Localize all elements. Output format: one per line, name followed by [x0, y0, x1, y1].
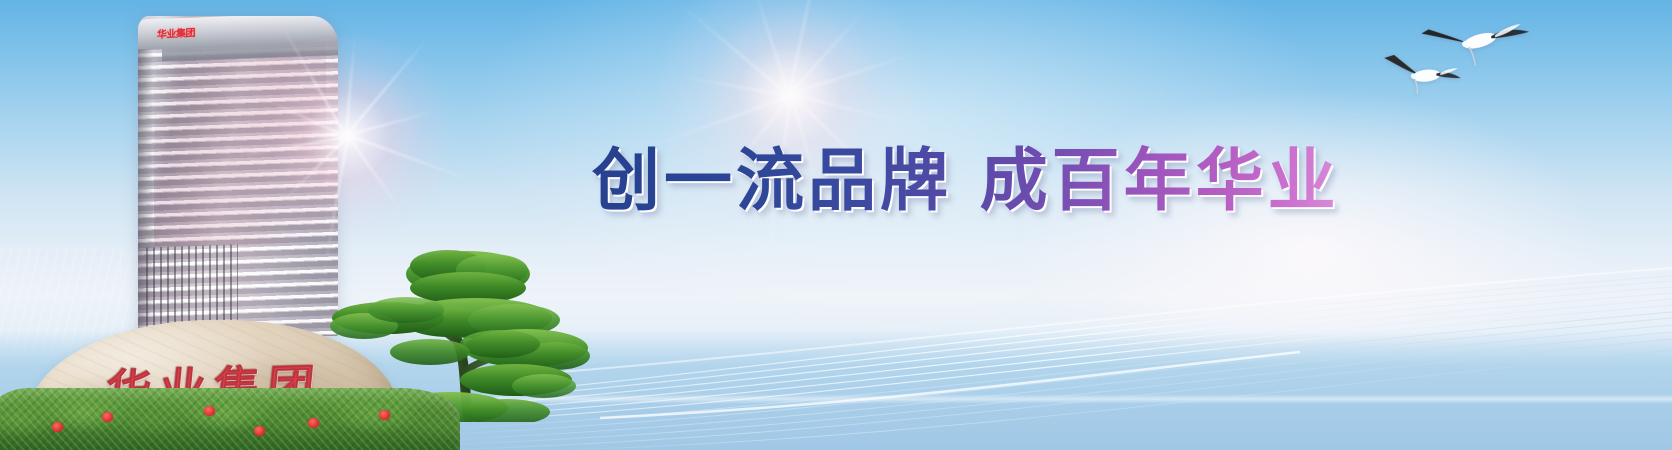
rooftop-sign: 华业集团	[152, 25, 200, 41]
flower-icon	[52, 422, 63, 432]
flower-icon	[254, 426, 265, 436]
flower-icon	[102, 412, 113, 422]
hedge-row	[0, 388, 460, 450]
seagull-icon	[1418, 0, 1539, 84]
slogan-banner: 创一流品牌 成百年华业	[592, 131, 1362, 217]
flower-icon	[379, 410, 390, 420]
flower-icon	[204, 406, 215, 416]
hero-banner: 华业集团	[0, 0, 1672, 450]
flower-icon	[308, 418, 319, 428]
slogan-text: 创一流品牌 成百年华业	[592, 125, 1340, 224]
office-tower: 华业集团	[138, 16, 338, 336]
